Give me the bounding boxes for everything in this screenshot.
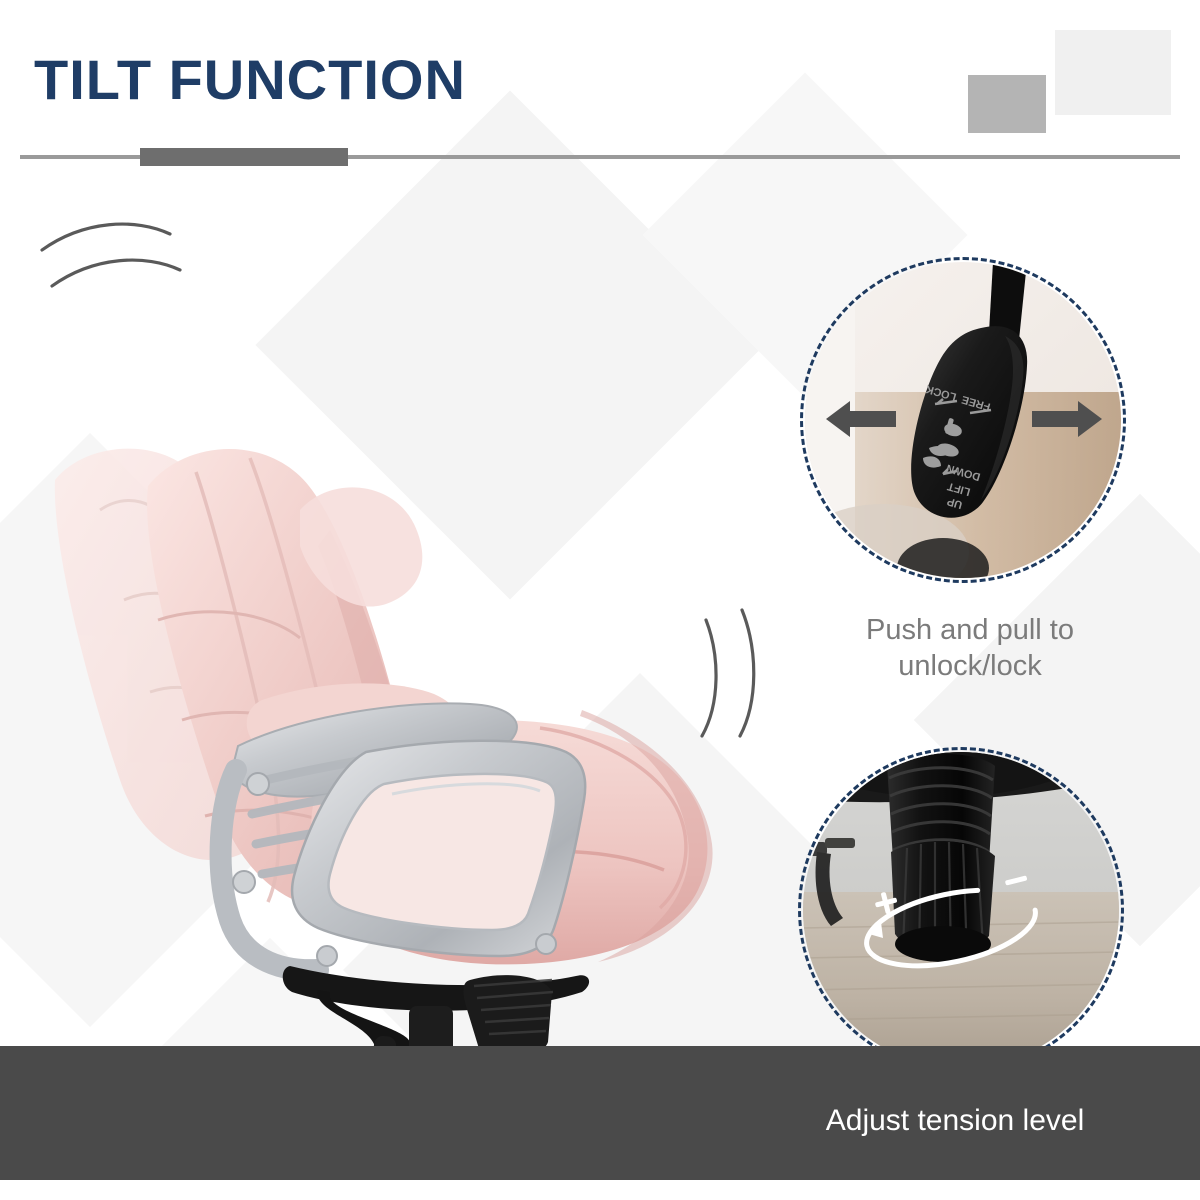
detail-photo-tension-knob [803, 752, 1119, 1068]
product-feature-banner: TILT FUNCTION [0, 0, 1200, 1200]
motion-arc-indicator [42, 224, 180, 286]
header-decoration-light-box [1055, 30, 1171, 115]
chair-graphic [0, 180, 790, 1180]
arrow-right-icon [1032, 398, 1102, 445]
caption-tension-knob: Adjust tension level [720, 1102, 1190, 1140]
header-decoration-gray-box [968, 75, 1046, 133]
motion-arc-indicator [702, 610, 754, 736]
caption-line-1: Push and pull to [760, 612, 1180, 648]
arrow-left-icon [826, 398, 896, 445]
chair-illustration [0, 180, 790, 1180]
header-divider-accent [140, 148, 348, 166]
caption-line-2: unlock/lock [760, 648, 1180, 684]
footer-band-edge [0, 1180, 1200, 1200]
tension-knob-photo [803, 752, 1119, 1068]
chair-armrest [221, 703, 586, 970]
caption-tilt-lever: Push and pull to unlock/lock [760, 612, 1180, 685]
page-title: TILT FUNCTION [34, 52, 466, 108]
